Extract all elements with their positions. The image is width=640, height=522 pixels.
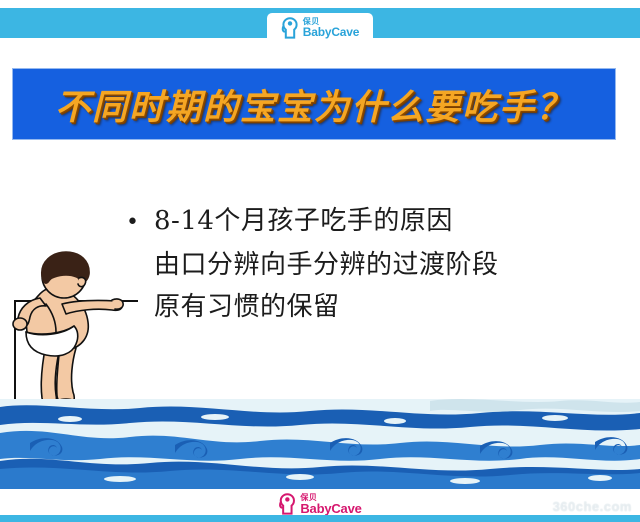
watermark-text: 360che.com xyxy=(553,499,632,514)
ocean-waves-graphic xyxy=(0,399,640,489)
footer-logo-en: BabyCave xyxy=(300,502,361,515)
body-line-2: 由口分辨向手分辨的过渡阶段 xyxy=(154,244,596,286)
slide-canvas: 保贝 BabyCave 不同时期的宝宝为什么要吃手？ • 8-14个月孩子吃手的… xyxy=(0,0,640,522)
baby-illustration xyxy=(2,248,152,416)
footer-bar: 保贝 BabyCave 360che.com xyxy=(0,489,640,522)
footer-color-strip xyxy=(0,515,640,522)
header-logo-text: 保贝 BabyCave xyxy=(303,18,359,38)
body-line-text-1: 8-14个月孩子吃手的原因 xyxy=(154,200,453,242)
baby-logo-icon xyxy=(281,17,299,39)
body-text-block: • 8-14个月孩子吃手的原因 由口分辨向手分辨的过渡阶段 原有习惯的保留 xyxy=(126,200,596,328)
header-logo-badge: 保贝 BabyCave xyxy=(267,13,373,43)
footer-logo-text: 保贝 BabyCave xyxy=(300,494,361,515)
bullet-line-1: • 8-14个月孩子吃手的原因 xyxy=(126,200,596,244)
header-logo-en: BabyCave xyxy=(303,26,359,38)
slide-title: 不同时期的宝宝为什么要吃手？ xyxy=(55,79,573,130)
bullet-marker: • xyxy=(126,202,154,244)
baby-logo-icon xyxy=(278,493,296,515)
body-line-3: 原有习惯的保留 xyxy=(154,286,596,328)
footer-logo: 保贝 BabyCave xyxy=(278,493,361,515)
title-banner: 不同时期的宝宝为什么要吃手？ xyxy=(12,68,616,140)
